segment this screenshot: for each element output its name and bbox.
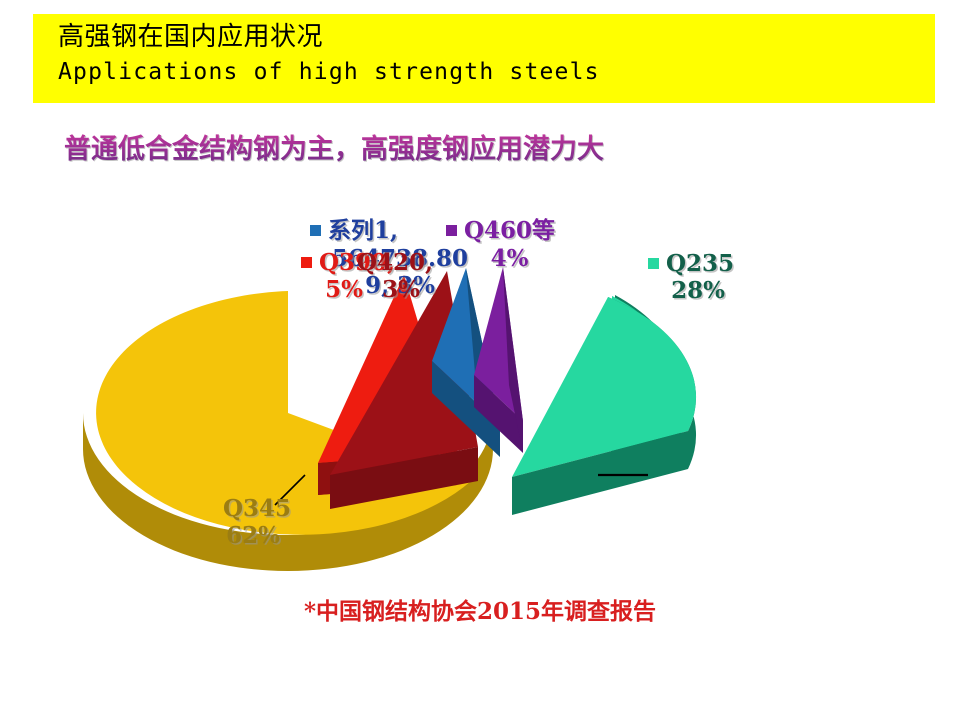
- pie-label-q460: Q460等 4%: [446, 211, 555, 272]
- page-title-chinese: 高强钢在国内应用状况: [58, 20, 323, 54]
- legend-marker-q235: [648, 258, 659, 269]
- page-title-english: Applications of high strength steels: [58, 56, 600, 88]
- pie-label-q460-line1: Q460等: [464, 217, 555, 244]
- pie-label-q235-line2: 28%: [662, 277, 734, 304]
- pie-label-series1-line1: 系列1,: [328, 217, 398, 244]
- legend-marker-q460: [446, 225, 457, 236]
- pie-label-q345: Q345 62%: [205, 495, 291, 549]
- legend-marker-series1: [310, 225, 321, 236]
- source-footnote: *中国钢结构协会2015年调查报告: [0, 592, 960, 626]
- title-band: 高强钢在国内应用状况 Applications of high strength…: [33, 14, 935, 103]
- subtitle-text: 普通低合金结构钢为主，高强度钢应用潜力大: [64, 133, 604, 167]
- pie-label-q345-line1: Q345: [223, 495, 291, 522]
- legend-marker-q345: [205, 503, 216, 514]
- pie-label-q460-line2: 4%: [464, 245, 555, 272]
- pie-slice-q235: [512, 295, 696, 515]
- pie-label-q420: Q420, 3%: [357, 249, 433, 303]
- pie-label-q235-line1: Q235: [666, 250, 734, 277]
- pie-label-q345-line2: 62%: [215, 522, 291, 549]
- pie-label-q420-line1: Q420,: [357, 249, 433, 276]
- pie-label-q235: Q235 28%: [648, 250, 734, 304]
- legend-marker-q390: [301, 257, 312, 268]
- pie-label-q420-line2: 3%: [369, 276, 433, 303]
- slide-canvas: 高强钢在国内应用状况 Applications of high strength…: [0, 0, 960, 720]
